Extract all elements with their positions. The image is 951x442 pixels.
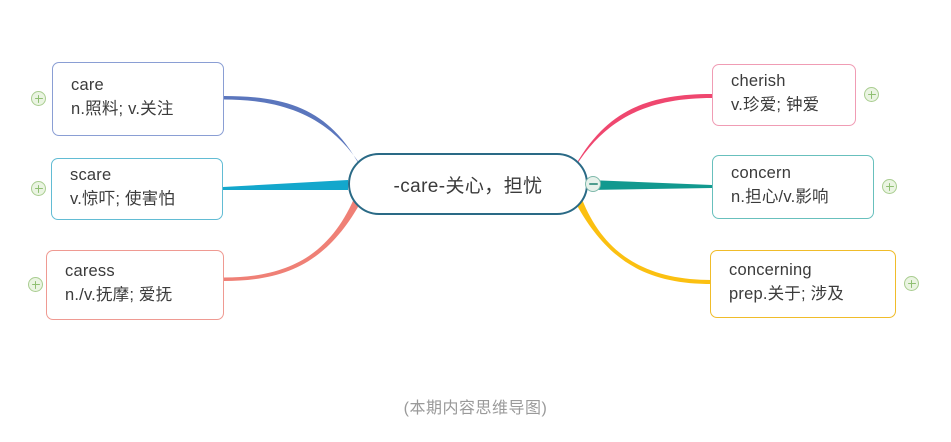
node-concern-gloss: n.担心/v.影响 — [731, 186, 859, 210]
connector-concerning — [574, 194, 712, 284]
plus-vertical-bar — [38, 185, 39, 193]
node-cherish-gloss: v.珍爱; 钟爱 — [731, 94, 841, 118]
node-center-label: -care-关心，担忧 — [393, 171, 542, 198]
minus-horizontal-bar — [589, 183, 598, 184]
node-caress-word: caress — [65, 260, 209, 284]
node-concerning[interactable]: concerning prep.关于; 涉及 — [710, 250, 896, 318]
plus-circle-icon-care[interactable] — [31, 91, 46, 106]
connector-scare — [223, 180, 348, 190]
node-concern[interactable]: concern n.担心/v.影响 — [712, 155, 874, 219]
node-scare-word: scare — [70, 164, 208, 188]
node-center-care[interactable]: -care-关心，担忧 — [348, 153, 588, 215]
node-concerning-gloss: prep.关于; 涉及 — [729, 283, 881, 307]
mindmap-canvas: care n.照料; v.关注 scare v.惊吓; 使害怕 caress n… — [0, 0, 951, 442]
connector-care — [224, 96, 366, 174]
node-care[interactable]: care n.照料; v.关注 — [52, 62, 224, 136]
node-concern-word: concern — [731, 162, 859, 186]
plus-circle-icon-concern[interactable] — [882, 179, 897, 194]
plus-vertical-bar — [35, 281, 36, 289]
connector-caress — [224, 194, 362, 281]
plus-circle-icon-cherish[interactable] — [864, 87, 879, 102]
plus-vertical-bar — [38, 95, 39, 103]
node-cherish[interactable]: cherish v.珍爱; 钟爱 — [712, 64, 856, 126]
node-caress-gloss: n./v.抚摩; 爱抚 — [65, 284, 209, 308]
node-concerning-word: concerning — [729, 259, 881, 283]
node-scare-gloss: v.惊吓; 使害怕 — [70, 188, 208, 212]
plus-circle-icon-scare[interactable] — [31, 181, 46, 196]
node-care-word: care — [71, 74, 209, 98]
plus-vertical-bar — [911, 280, 912, 288]
connector-concern — [588, 180, 712, 190]
plus-vertical-bar — [871, 91, 872, 99]
node-care-gloss: n.照料; v.关注 — [71, 98, 209, 122]
plus-circle-icon-caress[interactable] — [28, 277, 43, 292]
node-cherish-word: cherish — [731, 70, 841, 94]
minus-circle-icon-center[interactable] — [585, 176, 601, 192]
node-caress[interactable]: caress n./v.抚摩; 爱抚 — [46, 250, 224, 320]
connector-cherish — [571, 94, 712, 174]
plus-vertical-bar — [889, 183, 890, 191]
diagram-caption: (本期内容思维导图) — [0, 394, 951, 418]
plus-circle-icon-concerning[interactable] — [904, 276, 919, 291]
node-scare[interactable]: scare v.惊吓; 使害怕 — [51, 158, 223, 220]
